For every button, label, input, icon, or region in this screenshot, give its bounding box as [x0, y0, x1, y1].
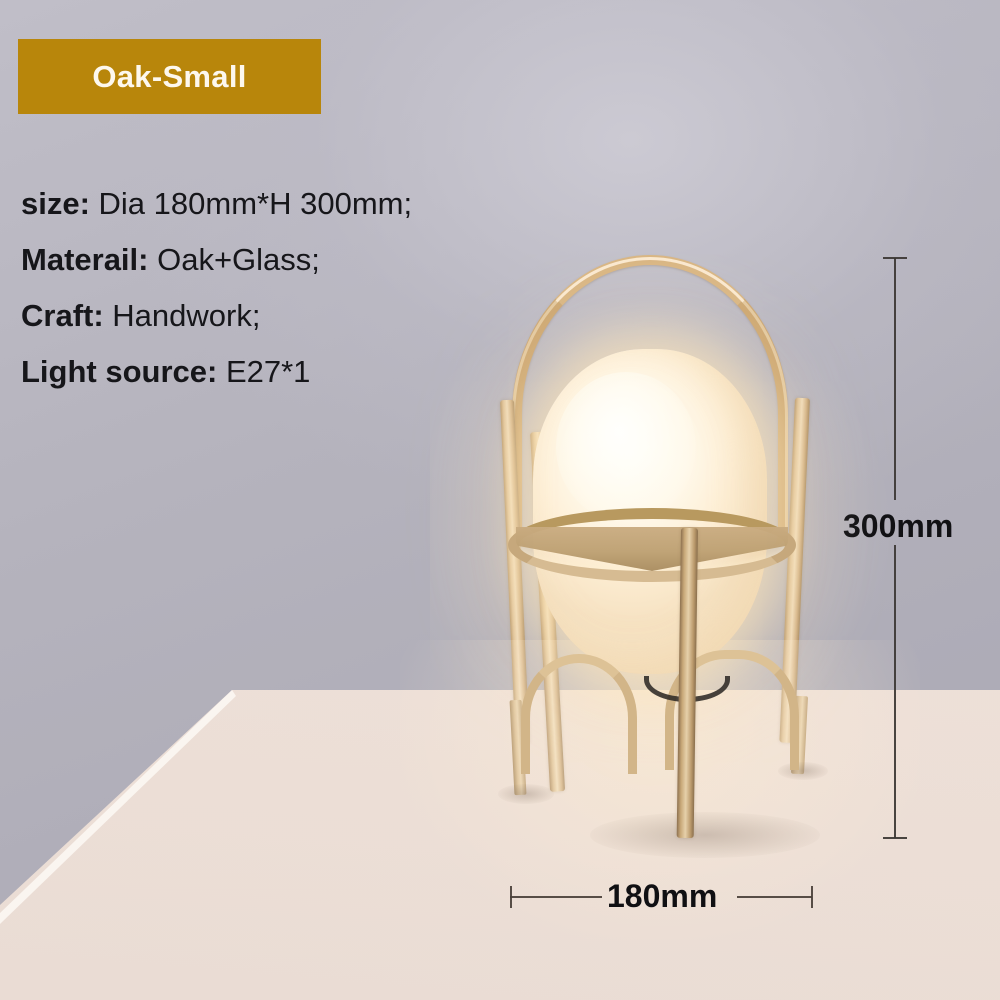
- spec-row-size: size: Dia 180mm*H 300mm;: [21, 184, 541, 240]
- specification-list: size: Dia 180mm*H 300mm; Materail: Oak+G…: [21, 184, 541, 408]
- variant-badge: Oak-Small: [18, 39, 321, 114]
- spec-key-material: Materail:: [21, 242, 148, 277]
- width-dimension-line-left: [510, 896, 602, 898]
- spec-value-size: Dia 180mm*H 300mm;: [90, 186, 412, 221]
- oak-glass-table-lamp: [0, 0, 1000, 1000]
- spec-key-size: size:: [21, 186, 90, 221]
- spec-key-light-source: Light source:: [21, 354, 217, 389]
- width-dimension-tick-right: [811, 886, 813, 908]
- spec-row-material: Materail: Oak+Glass;: [21, 240, 541, 296]
- spec-row-craft: Craft: Handwork;: [21, 296, 541, 352]
- lamp-contact-shadow: [590, 812, 820, 858]
- spec-value-light-source: E27*1: [217, 354, 310, 389]
- lamp-foot-shadow-left: [498, 784, 554, 804]
- variant-badge-label: Oak-Small: [92, 59, 246, 95]
- spec-row-light-source: Light source: E27*1: [21, 352, 541, 408]
- wood-brace-left: [521, 654, 637, 774]
- height-dimension-tick-bottom: [883, 837, 907, 839]
- wood-post-front-center: [677, 528, 698, 838]
- width-dimension-label: 180mm: [607, 878, 717, 915]
- height-dimension-line-lower: [894, 545, 896, 838]
- height-dimension-label: 300mm: [843, 508, 953, 545]
- width-dimension-line-right: [737, 896, 812, 898]
- height-dimension-line-upper: [894, 258, 896, 500]
- spec-value-material: Oak+Glass;: [148, 242, 319, 277]
- spec-key-craft: Craft:: [21, 298, 104, 333]
- spec-value-craft: Handwork;: [104, 298, 261, 333]
- product-photo-scene: Oak-Small size: Dia 180mm*H 300mm; Mater…: [0, 0, 1000, 1000]
